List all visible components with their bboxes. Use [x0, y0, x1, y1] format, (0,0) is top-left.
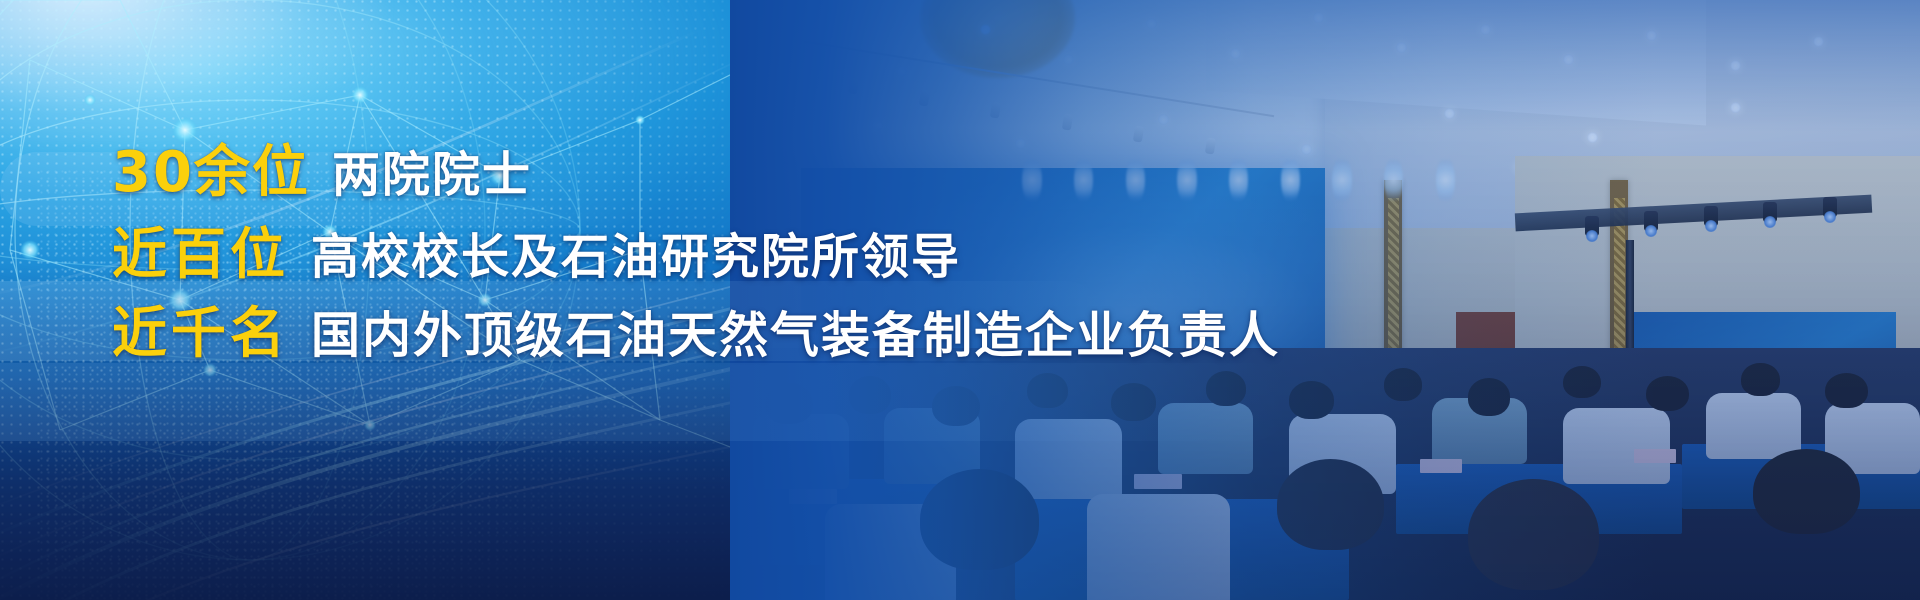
stat-desc-2: 高校校长及石油研究院所领导	[311, 229, 961, 286]
band-line-3	[0, 363, 1290, 441]
headline-block: 30余位 两院院士 近百位 高校校长及石油研究院所领导 近千名 国内外顶级石油天…	[112, 140, 1280, 366]
stat-count-3: 近千名	[112, 301, 289, 366]
stat-count-1: 30余位	[112, 140, 310, 206]
stat-desc-1: 两院院士	[332, 147, 532, 204]
stat-count-2: 近百位	[112, 222, 289, 287]
promo-banner: 30余位 两院院士 近百位 高校校长及石油研究院所领导 近千名 国内外顶级石油天…	[0, 0, 1920, 600]
stat-line-1: 30余位 两院院士	[112, 140, 1280, 206]
stat-desc-3: 国内外顶级石油天然气装备制造企业负责人	[311, 307, 1280, 365]
stat-line-2: 近百位 高校校长及石油研究院所领导	[112, 222, 1280, 287]
stat-line-3: 近千名 国内外顶级石油天然气装备制造企业负责人	[112, 301, 1280, 366]
